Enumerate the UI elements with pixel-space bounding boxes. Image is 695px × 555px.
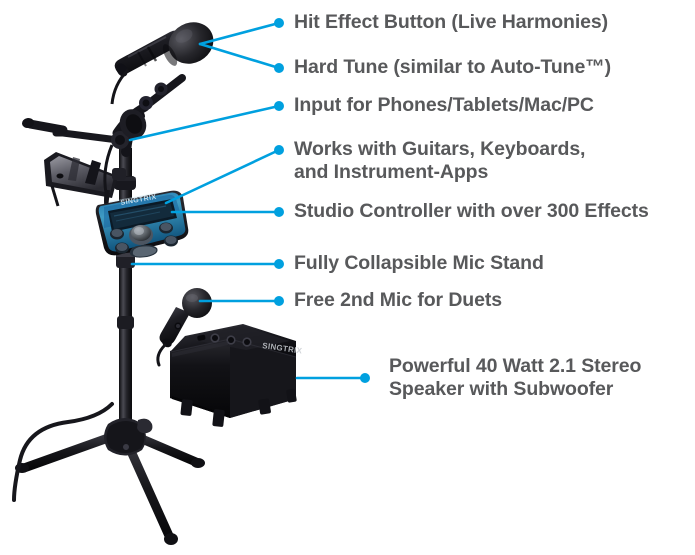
leader-dot-works-with-instruments [274,145,284,155]
powered-speaker: SINGTRIX [170,324,303,427]
annotation-label-hit-effect-button: Hit Effect Button (Live Harmonies) [294,11,608,34]
tablet-holder [44,152,126,208]
annotation-label-powerful-speaker: Powerful 40 Watt 2.1 Stereo Speaker with… [389,355,641,401]
annotation-label-collapsible-mic-stand: Fully Collapsible Mic Stand [294,252,544,275]
leader-line-input-for-devices [130,106,279,140]
leader-dot-input-for-devices [274,101,284,111]
annotation-label-studio-controller: Studio Controller with over 300 Effects [294,200,649,223]
leader-line-works-with-instruments [166,150,279,203]
studio-controller: SINGTRIX [96,191,189,258]
leader-line-hard-tune [200,44,279,68]
product-illustration: SINGTRIX [0,0,695,555]
leader-dot-collapsible-mic-stand [274,259,284,269]
leader-dot-free-second-mic [274,296,284,306]
leader-dot-hit-effect-button [274,18,284,28]
annotation-label-hard-tune: Hard Tune (similar to Auto-Tune™) [294,56,611,79]
leader-dot-studio-controller [274,207,284,217]
leader-dot-powerful-speaker [360,373,370,383]
annotation-label-input-for-devices: Input for Phones/Tablets/Mac/PC [294,94,594,117]
mic-stand-pole [114,148,136,440]
annotation-label-works-with-instruments: Works with Guitars, Keyboards, and Instr… [294,138,585,184]
tripod-base [15,418,205,545]
product-feature-diagram: SINGTRIX [0,0,695,555]
annotation-label-free-second-mic: Free 2nd Mic for Duets [294,289,502,312]
leader-dot-hard-tune [274,63,284,73]
